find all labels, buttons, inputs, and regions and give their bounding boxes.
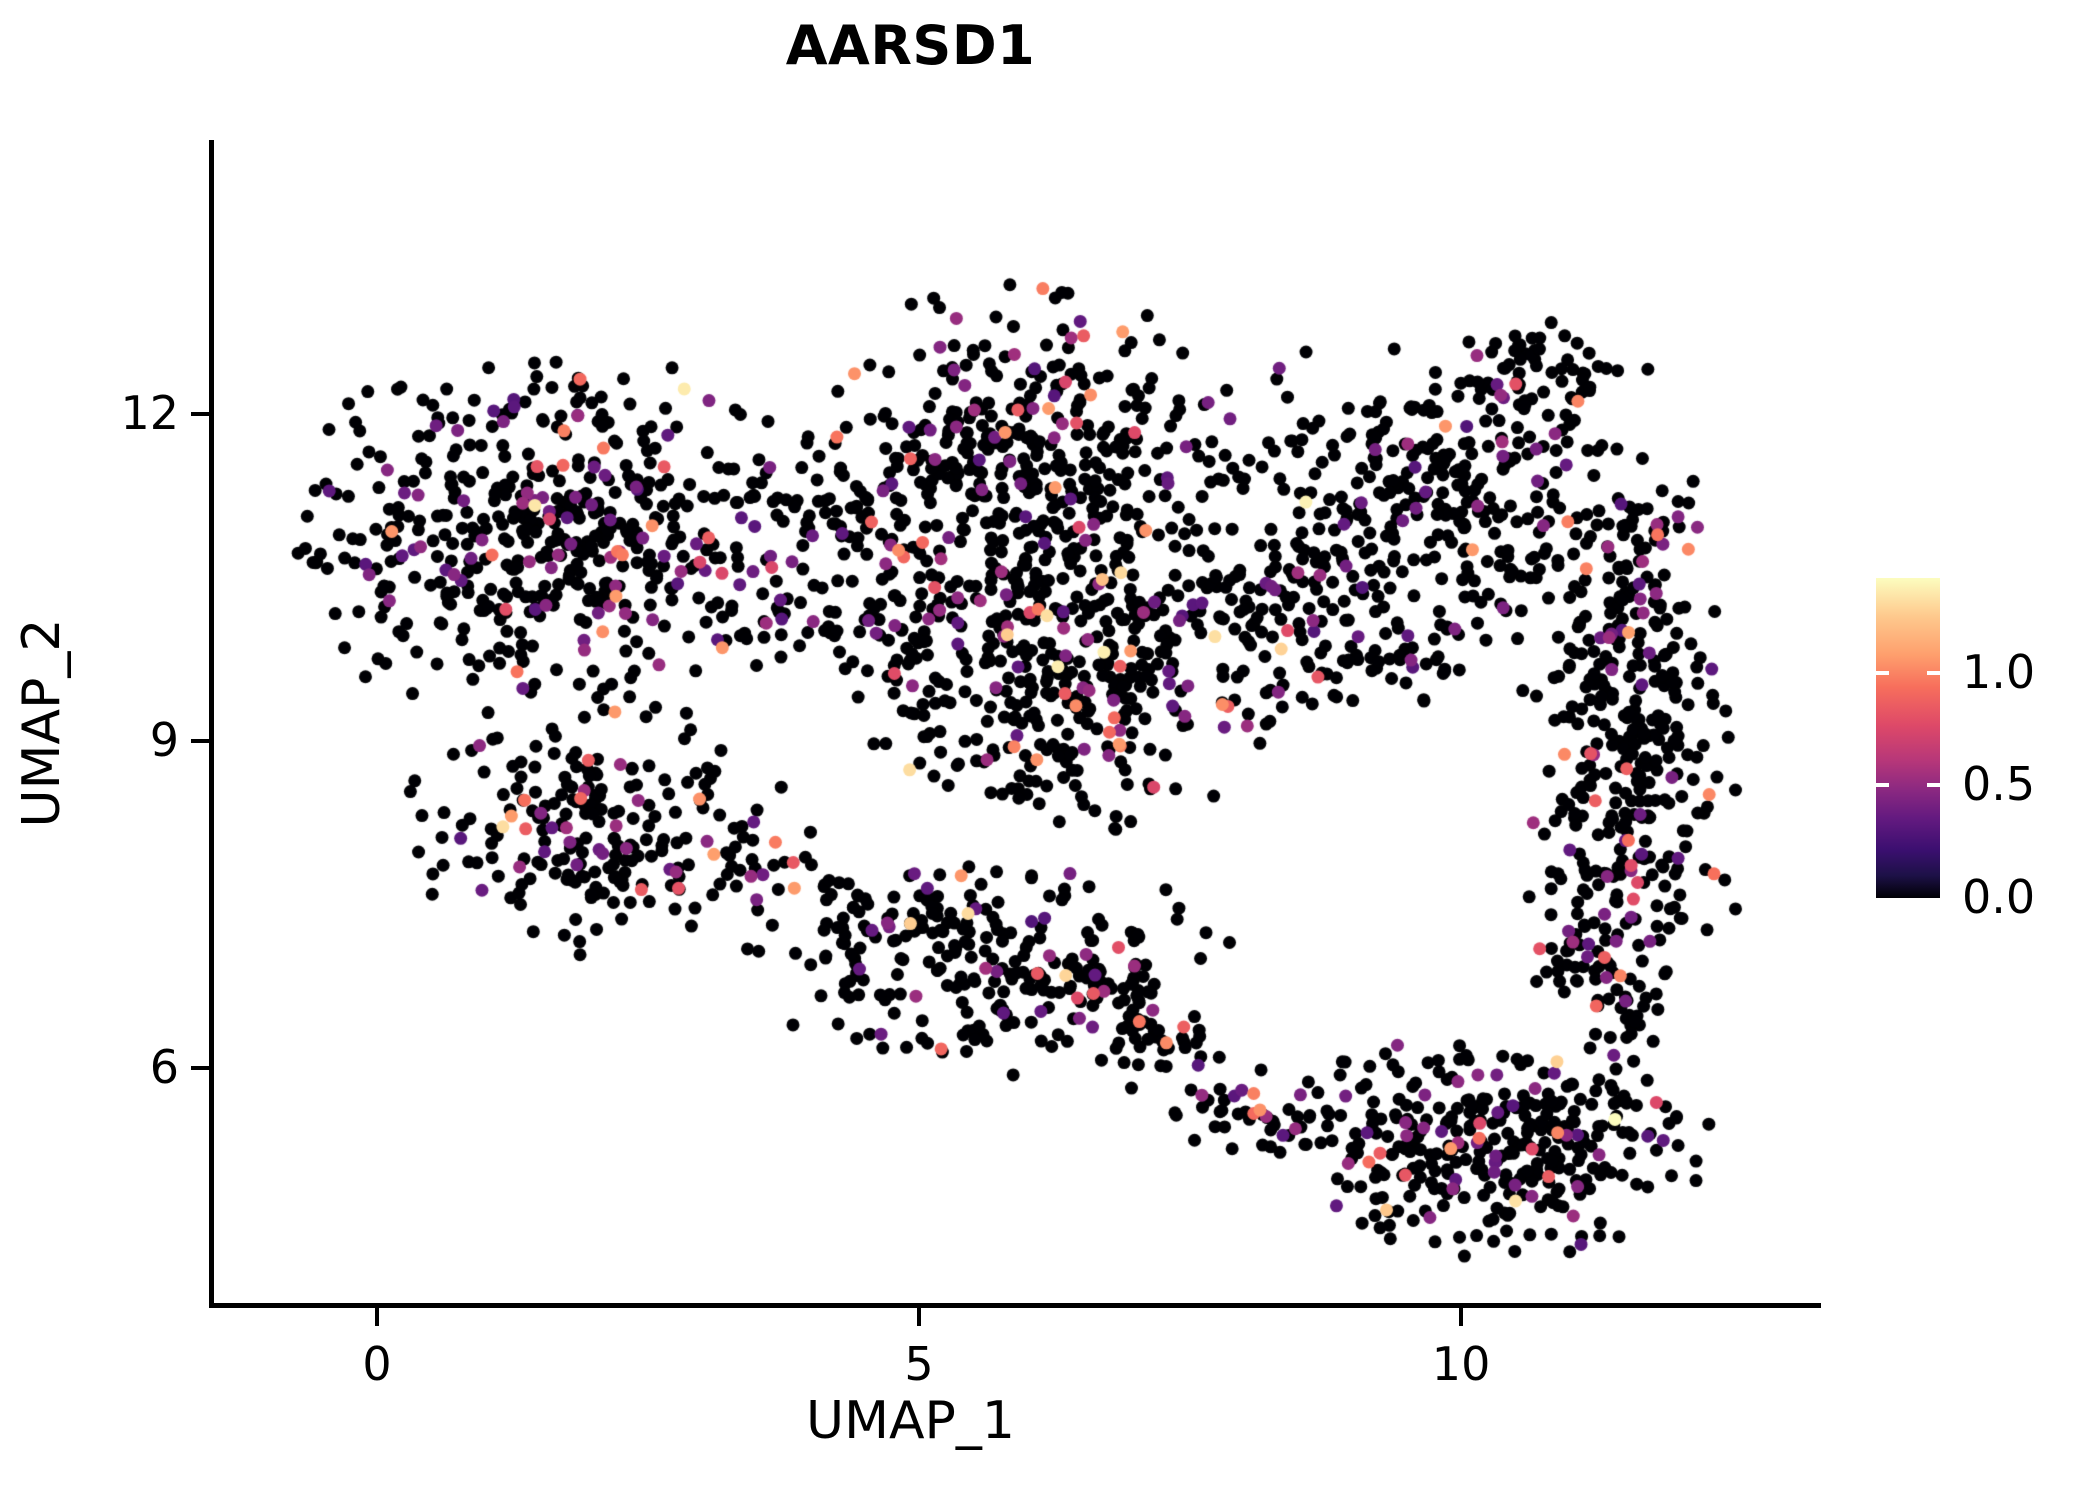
umap-feature-plot-figure: AARSD1 6912 0510 UMAP_1 UMAP_2 0.00.51.0 (0, 0, 2100, 1500)
colorbar-gradient (1876, 578, 1940, 898)
x-tick-mark (1459, 1308, 1463, 1326)
y-tick-mark (191, 412, 209, 416)
x-tick-label: 0 (297, 1341, 457, 1387)
colorbar-tick-mark (1876, 783, 1940, 787)
x-axis-label: UMAP_1 (0, 1391, 1821, 1451)
y-axis-label: UMAP_2 (12, 463, 72, 983)
scatter-plot-canvas (209, 140, 1821, 1305)
y-tick-label: 6 (19, 1044, 179, 1090)
colorbar-tick-label: 0.5 (1962, 761, 2035, 807)
x-tick-label: 5 (839, 1341, 999, 1387)
y-tick-mark (191, 1066, 209, 1070)
y-tick-label: 12 (19, 390, 179, 436)
colorbar-tick-label: 1.0 (1962, 649, 2035, 695)
y-tick-mark (191, 739, 209, 743)
colorbar: 0.00.51.0 (1876, 578, 2076, 903)
x-tick-mark (375, 1308, 379, 1326)
x-tick-mark (917, 1308, 921, 1326)
x-tick-label: 10 (1381, 1341, 1541, 1387)
page-title: AARSD1 (0, 14, 1821, 77)
colorbar-tick-mark (1876, 671, 1940, 675)
colorbar-tick-label: 0.0 (1962, 874, 2035, 920)
